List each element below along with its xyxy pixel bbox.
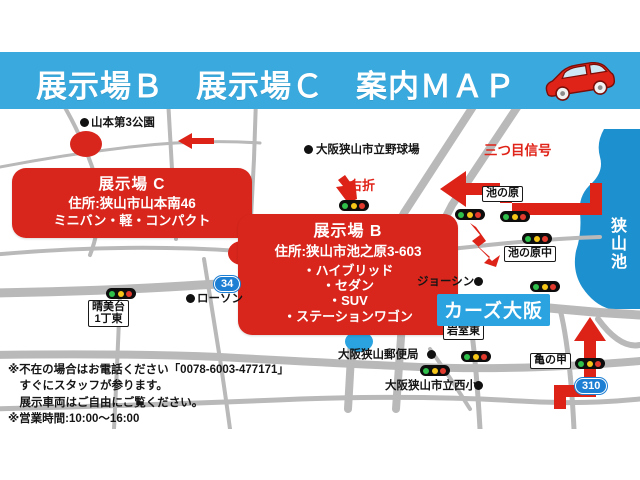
- showroom-c-callout[interactable]: 展示場 C 住所:狭山市山本南46 ミニバン・軽・コンパクト: [12, 168, 252, 238]
- harumidai-line-1: 1丁東: [92, 314, 125, 326]
- cars-osaka-label[interactable]: カーズ大阪: [437, 294, 550, 326]
- showroom-c-title: 展示場 C: [16, 176, 248, 194]
- route-34-shield: 34: [214, 276, 240, 292]
- ikenohara-label: 池の原: [482, 186, 523, 202]
- footer-note: ※不在の場合はお電話ください「0078-6003-477171」 すぐにスタッフ…: [8, 362, 289, 427]
- baseball-stadium-dot: [304, 145, 313, 154]
- route-310-shield: 310: [575, 378, 607, 394]
- harumidai-1chome-higashi-label: 晴美台 1丁東: [88, 300, 129, 327]
- showroom-b-item-2: ・SUV: [244, 293, 452, 308]
- yamamoto-3rd-park-label: 山本第3公園: [91, 114, 155, 130]
- joshin-dot: [474, 277, 483, 286]
- joshin-label: ジョーシン: [417, 273, 474, 289]
- ikenohara-naka-line-0: 池の原中: [508, 248, 552, 260]
- traffic-signal-4: [500, 211, 530, 222]
- showroom-b-title: 展示場 B: [244, 223, 452, 242]
- ikenohara-naka-label: 池の原中: [504, 246, 556, 262]
- osakasayama-baseball-stadium-label: 大阪狭山市立野球場: [316, 141, 420, 157]
- page-title: 展示場Ｂ 展示場Ｃ 案内ＭＡＰ: [36, 61, 516, 106]
- traffic-signal-6: [530, 281, 560, 292]
- lawson-label: ローソン: [197, 290, 243, 306]
- traffic-signal-8: [420, 365, 450, 376]
- traffic-signal-3: [455, 209, 485, 220]
- iwamuro-higashi-label: 岩室東: [443, 324, 484, 340]
- third-signal-annotation: 三つ目信号: [484, 139, 552, 159]
- showroom-b-address: 住所:狭山市池之原3-603: [244, 244, 452, 260]
- showroom-b-item-3: ・ステーションワゴン: [244, 309, 452, 324]
- sayama-lake-label: 狭山池: [604, 217, 628, 271]
- kamenoko-label: 亀の甲: [530, 353, 571, 369]
- showroom-c-marker: [70, 131, 102, 157]
- kamenoko-line-0: 亀の甲: [534, 355, 567, 367]
- red-car-icon: [536, 62, 620, 102]
- post-office-dot: [427, 350, 436, 359]
- iwamuro-higashi-line-0: 岩室東: [447, 326, 480, 338]
- osakasayama-post-office-label: 大阪狭山郵便局: [338, 346, 419, 362]
- traffic-signal-9: [575, 358, 605, 369]
- osakasayama-nishi-elementary-label: 大阪狭山市立西小: [385, 377, 477, 393]
- harumidai-line-0: 晴美台: [92, 302, 125, 314]
- traffic-signal-7: [461, 351, 491, 362]
- showroom-c-address: 住所:狭山市山本南46: [16, 196, 248, 212]
- traffic-signal-2: [339, 200, 369, 211]
- ikenohara-line-0: 池の原: [486, 188, 519, 200]
- traffic-signal-1: [106, 288, 136, 299]
- lawson-dot: [186, 294, 195, 303]
- showroom-c-item-0: ミニバン・軽・コンパクト: [16, 213, 248, 228]
- traffic-signal-5: [522, 233, 552, 244]
- yamamoto-3rd-park-dot: [80, 118, 89, 127]
- turn-right-annotation: 右折: [349, 175, 375, 194]
- map-screenshot: 展示場Ｂ 展示場Ｃ 案内ＭＡＰ: [0, 0, 640, 480]
